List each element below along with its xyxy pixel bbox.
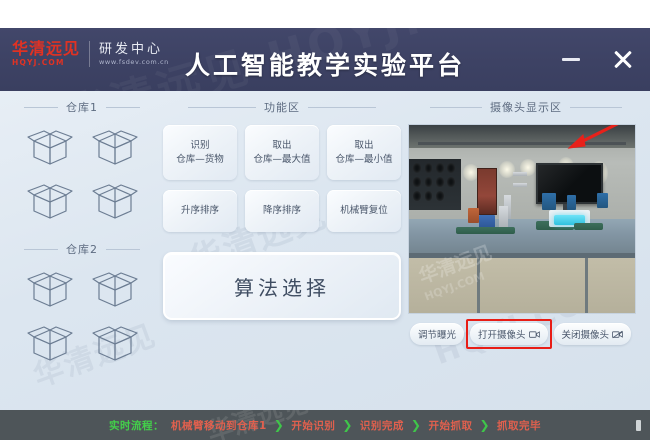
app-root: 华清远见 HQYJ.COM 华清远见 HQYJ.COM 研发中心 www.fsd… (0, 0, 650, 440)
adjust-exposure-button[interactable]: 调节曝光 (410, 323, 464, 345)
box-icon[interactable] (24, 125, 76, 169)
logo-chinese-text: 华清远见 (12, 41, 80, 57)
button-line-1: 识别 (190, 139, 209, 153)
status-flow: 实时流程： 机械臂移动到仓库1 ❯ 开始识别 ❯ 识别完成 ❯ 开始抓取 ❯ 抓… (0, 410, 650, 440)
application-window: 华清远见 HQYJ.COM 华清远见 HQYJ.COM 研发中心 www.fsd… (0, 28, 650, 410)
camera-area-label: 摄像头显示区 (490, 99, 562, 115)
button-line-1: 升序排序 (181, 204, 219, 218)
camera-controls: 调节曝光 打开摄像头 关闭摄像头 (408, 323, 644, 345)
minimize-icon (562, 58, 580, 61)
close-camera-button[interactable]: 关闭摄像头 (554, 323, 632, 345)
button-line-2: 仓库—货物 (176, 153, 224, 167)
lab-robot-arm (597, 193, 608, 208)
main-content: 华清远见 华清远见 HQYJ.COM HQYJ.COM 仓库1 (0, 91, 650, 410)
close-icon (612, 48, 634, 70)
status-step: 开始抓取 (428, 418, 472, 433)
camera-feed-image: 华清远见 HQYJ.COM (409, 125, 635, 313)
status-step: 机械臂移动到仓库1 (171, 418, 267, 433)
button-line-1: 机械臂复位 (340, 204, 388, 218)
button-line-1: 降序排序 (263, 204, 301, 218)
lab-robot-arm (542, 193, 556, 210)
lab-cabinets (409, 258, 635, 313)
function-zone-label: 功能区 (264, 99, 300, 115)
rule-left (430, 107, 482, 108)
rule-right (570, 107, 622, 108)
logo-subtitle-text: 研发中心 (99, 43, 169, 56)
logo-secondary: 研发中心 www.fsdev.com.cn (99, 43, 169, 66)
brand-logo: 华清远见 HQYJ.COM 研发中心 www.fsdev.com.cn (12, 41, 169, 67)
warehouse-block-2: 仓库2 (8, 241, 156, 365)
status-scroll-indicator[interactable] (636, 420, 641, 431)
warehouse-2-label: 仓库2 (66, 241, 98, 257)
rule-left (24, 249, 58, 250)
camera-feed[interactable]: 华清远见 HQYJ.COM (408, 124, 636, 314)
camera-on-icon (529, 330, 540, 339)
warehouse-1-label: 仓库1 (66, 99, 98, 115)
rule-left (188, 107, 256, 108)
window-controls (558, 45, 636, 73)
status-step: 抓取完毕 (497, 418, 541, 433)
ascending-sort-button[interactable]: 升序排序 (163, 190, 237, 232)
box-icon[interactable] (89, 267, 141, 311)
box-icon[interactable] (24, 321, 76, 365)
status-separator-icon: ❯ (342, 418, 353, 432)
function-zone-panel: 功能区 识别 仓库—货物 取出 仓库—最大值 取出 仓库—最小值 (163, 99, 401, 320)
rule-right (106, 107, 140, 108)
status-step: 识别完成 (360, 418, 404, 433)
status-step: 开始识别 (291, 418, 335, 433)
warehouse-panel: 仓库1 (8, 99, 156, 377)
box-icon[interactable] (24, 179, 76, 223)
lab-tray (456, 227, 515, 235)
lab-orange-object (468, 208, 479, 223)
retrieve-warehouse-min-button[interactable]: 取出 仓库—最小值 (327, 125, 401, 180)
logo-domain-text: HQYJ.COM (12, 59, 80, 67)
box-icon[interactable] (89, 179, 141, 223)
retrieve-warehouse-max-button[interactable]: 取出 仓库—最大值 (245, 125, 319, 180)
status-separator-icon: ❯ (274, 418, 285, 432)
lab-shelf (513, 172, 527, 176)
button-label: 调节曝光 (418, 327, 456, 341)
warehouse-2-title: 仓库2 (8, 241, 156, 257)
lab-shelf-unit (409, 159, 461, 210)
status-label: 实时流程： (109, 418, 164, 433)
lab-ceiling-rail (418, 142, 626, 145)
logo-subtitle-url: www.fsdev.com.cn (99, 59, 169, 66)
identify-warehouse-goods-button[interactable]: 识别 仓库—货物 (163, 125, 237, 180)
logo-divider (89, 41, 90, 67)
box-icon[interactable] (24, 267, 76, 311)
button-line-1: 取出 (354, 139, 373, 153)
warehouse-block-1: 仓库1 (8, 99, 156, 223)
box-icon[interactable] (89, 125, 141, 169)
camera-off-icon (612, 330, 623, 339)
warehouse-2-grid (8, 257, 156, 365)
warehouse-1-grid (8, 115, 156, 223)
button-label: 打开摄像头 (478, 327, 526, 341)
box-icon[interactable] (89, 321, 141, 365)
lab-door (477, 168, 497, 215)
logo-primary: 华清远见 HQYJ.COM (12, 41, 80, 67)
camera-panel: 摄像头显示区 (408, 99, 644, 345)
button-label: 关闭摄像头 (562, 327, 610, 341)
button-line-1: 取出 (272, 139, 291, 153)
minimize-button[interactable] (558, 45, 584, 73)
lab-shelf (513, 183, 527, 187)
button-line-2: 仓库—最小值 (335, 153, 392, 167)
camera-area-title: 摄像头显示区 (408, 99, 644, 115)
open-camera-button[interactable]: 打开摄像头 (470, 323, 548, 345)
status-separator-icon: ❯ (411, 418, 422, 432)
lab-robot-arm (567, 195, 576, 210)
function-buttons-row-1: 识别 仓库—货物 取出 仓库—最大值 取出 仓库—最小值 (163, 125, 401, 180)
function-zone-title: 功能区 (163, 99, 401, 115)
descending-sort-button[interactable]: 降序排序 (245, 190, 319, 232)
function-buttons-row-2: 升序排序 降序排序 机械臂复位 (163, 190, 401, 232)
algorithm-selection-button[interactable]: 算法选择 (163, 252, 401, 320)
warehouse-1-title: 仓库1 (8, 99, 156, 115)
status-bar: 华清远见 实时流程： 机械臂移动到仓库1 ❯ 开始识别 ❯ 识别完成 ❯ 开始抓… (0, 410, 650, 440)
rule-right (106, 249, 140, 250)
lab-tray (574, 223, 603, 231)
lab-gray-object (499, 206, 508, 229)
status-separator-icon: ❯ (479, 418, 490, 432)
rule-right (308, 107, 376, 108)
rule-left (24, 107, 58, 108)
title-bar: 华清远见 HQYJ.COM 华清远见 HQYJ.COM 研发中心 www.fsd… (0, 28, 650, 91)
button-line-2: 仓库—最大值 (253, 153, 310, 167)
robot-arm-reset-button[interactable]: 机械臂复位 (327, 190, 401, 232)
close-button[interactable] (610, 45, 636, 73)
